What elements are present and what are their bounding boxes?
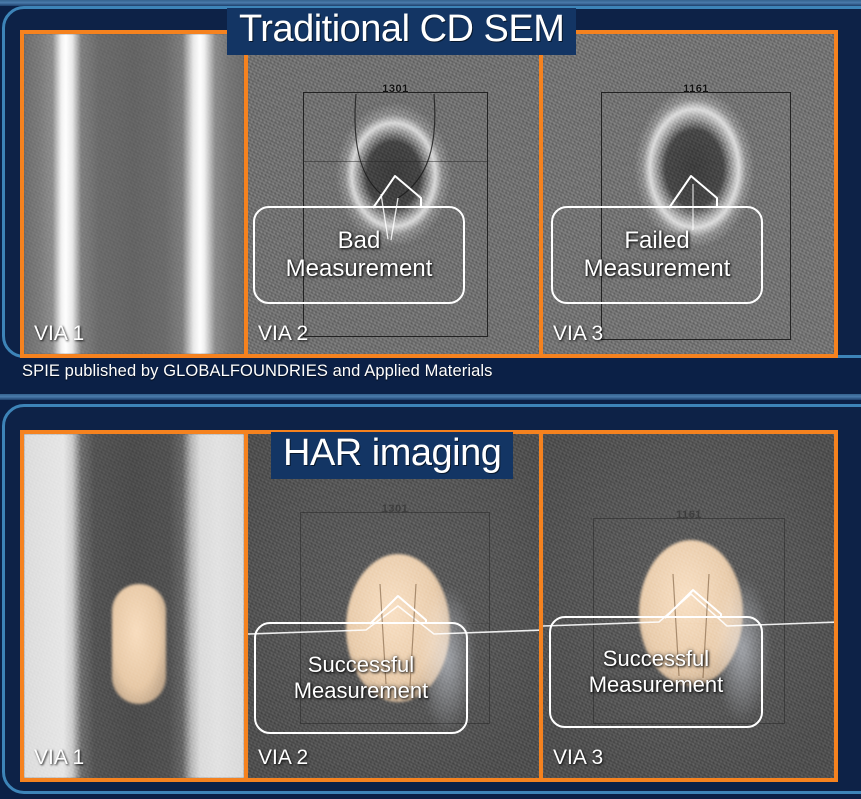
callout-line-2: Measurement [584,255,731,283]
callout-successful-measurement[interactable]: Successful Measurement [254,622,468,734]
callout-text: Successful Measurement [254,622,468,734]
via-label: VIA 2 [258,746,308,770]
via-label: VIA 2 [258,322,308,346]
sem-image-via-1[interactable]: VIA 1 [24,34,244,354]
image-strip-traditional: VIA 1 1301 [20,30,838,358]
measurement-value: 1301 [382,503,408,515]
sem-image-via-1-canvas [24,34,244,354]
callout-line-1: Failed [624,227,689,255]
via-label: VIA 1 [34,746,84,770]
callout-line-1: Bad [338,227,381,255]
sem-image-via-2[interactable]: 1301 Bad Measurement VIA 2 [244,34,539,354]
via-highlight-blob [112,584,166,704]
measurement-value: 1161 [676,509,702,521]
image-strip-har: VIA 1 1301 [20,430,838,782]
source-caption: SPIE published by GLOBALFOUNDRIES and Ap… [22,362,492,381]
section-title-har-imaging: HAR imaging [271,432,513,479]
sem-trench-texture [24,34,244,354]
via-label: VIA 3 [553,746,603,770]
har-image-via-3[interactable]: 1161 Successful Measurement VIA 3 [539,434,834,778]
section-title-traditional-cd-sem: Traditional CD SEM [227,8,576,55]
callout-text: Failed Measurement [551,206,763,304]
measurement-guide-line [304,161,487,162]
slide-root: VIA 1 1301 [0,0,861,799]
callout-bad-measurement[interactable]: Bad Measurement [253,206,465,304]
callout-line-1: Successful [603,646,709,672]
sem-image-via-3[interactable]: 1161 Failed Measurement VIA 3 [539,34,834,354]
callout-line-1: Successful [308,652,414,678]
callout-line-2: Measurement [286,255,433,283]
measurement-value: 1301 [382,83,408,95]
callout-line-2: Measurement [294,678,429,704]
har-image-via-1[interactable]: VIA 1 [24,434,244,778]
via-label: VIA 3 [553,322,603,346]
via-label: VIA 1 [34,322,84,346]
callout-text: Bad Measurement [253,206,465,304]
middle-accent-rule [0,394,861,400]
measurement-value: 1161 [683,83,709,95]
har-image-via-2[interactable]: 1301 Successful Measurement VIA 2 [244,434,539,778]
callout-line-2: Measurement [589,672,724,698]
callout-text: Successful Measurement [549,616,763,728]
callout-failed-measurement[interactable]: Failed Measurement [551,206,763,304]
callout-successful-measurement[interactable]: Successful Measurement [549,616,763,728]
